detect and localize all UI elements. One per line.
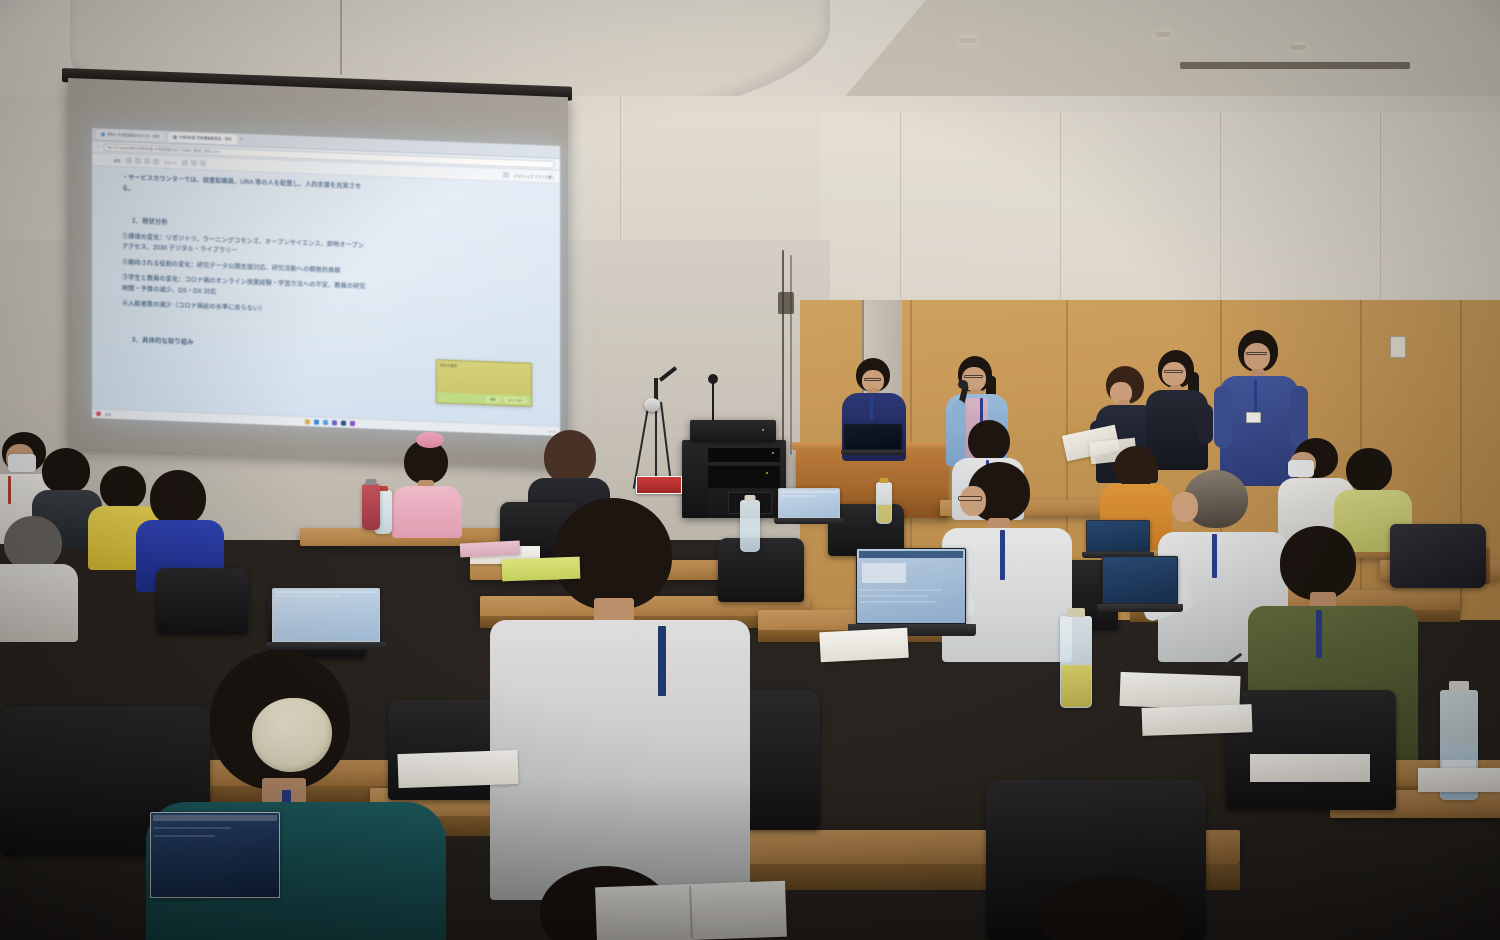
laptop-window-bar (781, 491, 837, 493)
lanyard (1212, 534, 1217, 578)
face (1162, 362, 1186, 386)
lanyard (1000, 530, 1005, 580)
ribbon-right-group: デスクトップ アプリで開く (503, 172, 555, 180)
browser-tab-2-label: 令和5年度 学術情報委員会 - 資料 (179, 135, 232, 142)
laptop-screen (845, 425, 901, 449)
eyeglasses-icon (964, 375, 983, 378)
head (968, 420, 1010, 462)
align-left-icon[interactable] (182, 159, 188, 165)
head (554, 498, 672, 610)
arm (952, 400, 965, 434)
lanyard (1316, 610, 1322, 658)
lanyard (658, 626, 666, 696)
edge-icon[interactable] (314, 420, 319, 425)
red-sign (636, 476, 682, 494)
head (42, 448, 90, 494)
laptop-content-line (276, 595, 340, 597)
laptop-lid (1086, 520, 1150, 552)
paper-document (1418, 768, 1500, 792)
laptop-content-line (154, 835, 215, 837)
face (960, 486, 986, 516)
lanyard (870, 396, 873, 420)
dialog-button-row: 保存 キャンセル (437, 392, 531, 406)
laptop-content-line (860, 589, 942, 591)
share-icon[interactable] (503, 172, 509, 178)
water-bottle (876, 482, 892, 524)
bold-icon[interactable] (126, 157, 132, 163)
paper-document (1250, 754, 1370, 782)
ribbon-format-group (182, 159, 206, 166)
tab-favicon-icon (173, 135, 177, 139)
laptop-screen (1087, 521, 1149, 551)
laptop-window-bar (859, 551, 963, 558)
video-camera-icon (644, 398, 660, 412)
laptop-base (774, 518, 844, 524)
explorer-icon[interactable] (305, 419, 310, 424)
head (1346, 448, 1392, 492)
browser-icon[interactable] (350, 421, 355, 426)
underline-icon[interactable] (144, 158, 150, 164)
paper-document (819, 628, 908, 663)
head (544, 430, 596, 484)
laptop-screen (857, 549, 965, 623)
name-badge (1246, 412, 1261, 423)
bottle-cap (880, 478, 889, 483)
projected-document: 資料1 大学図書館の在り方 - 検討 令和5年度 学術情報委員会 - 資料 + … (92, 128, 560, 436)
face-mask-icon (8, 454, 36, 472)
table-icon[interactable] (200, 160, 206, 166)
face (1244, 343, 1270, 370)
italic-icon[interactable] (135, 158, 141, 164)
eyeglasses-icon (958, 496, 982, 501)
laptop-lid (272, 588, 380, 642)
rack-status-led (766, 472, 768, 474)
new-tab-button[interactable]: + (240, 137, 243, 143)
water-bottle (740, 500, 760, 552)
back-icon[interactable]: ‹ (97, 144, 99, 150)
bottle-cap (366, 479, 377, 485)
laptop-content-block (862, 563, 906, 583)
laptop-lid (844, 424, 902, 450)
head (150, 470, 206, 526)
start-button-icon[interactable] (96, 411, 101, 416)
head (100, 466, 146, 510)
laptop-screen (779, 489, 839, 517)
ceiling-arch-rib (340, 0, 342, 75)
arm (1198, 404, 1213, 444)
pink-hair-bow (416, 432, 444, 448)
laptop-lid (1102, 556, 1178, 604)
torso (490, 620, 750, 900)
bottle-cap (1449, 681, 1469, 691)
laptop-screen (273, 589, 379, 641)
water-bottle (1060, 616, 1092, 708)
bottle-cap (745, 495, 756, 501)
head (1280, 526, 1356, 600)
open-desktop-app-button[interactable]: デスクトップ アプリで開く (513, 173, 555, 180)
backpack (1390, 524, 1486, 588)
dialog-save-button[interactable]: 保存 (486, 396, 500, 403)
head (1114, 446, 1158, 488)
dialog-title: 保存の確認 (437, 360, 531, 373)
laptop-screen (1103, 557, 1177, 603)
laptop-screen (151, 813, 279, 897)
mail-icon[interactable] (323, 420, 328, 425)
laptop-content-line (860, 601, 936, 603)
eyeglasses-icon (864, 378, 881, 381)
conference-room-photo: 資料1 大学図書館の在り方 - 検討 令和5年度 学術情報委員会 - 資料 + … (0, 0, 1500, 940)
ceiling-downlight (960, 38, 976, 43)
wall-control-panel[interactable] (1390, 336, 1406, 358)
taskbar-pinned-apps (305, 419, 355, 426)
document-body: ・サービスカウンターでは、図書館職員、URA 等の人を配置し、人的支援を充実させ… (92, 166, 560, 426)
laptop-content-line (782, 495, 818, 497)
ceiling-downlight (1155, 32, 1171, 37)
laptop-lid (778, 488, 840, 518)
microphone-head-icon (708, 374, 718, 384)
ribbon-edit-button[interactable]: 編集 (114, 157, 121, 162)
amp-led (762, 429, 764, 431)
chair[interactable] (718, 538, 804, 602)
ribbon-forward-button[interactable]: → (105, 158, 108, 162)
ribbon-tool-group (126, 157, 159, 164)
ribbon-back-button[interactable]: ← (97, 157, 100, 161)
bottle-contents (1061, 665, 1091, 707)
taskbar-clock: 13:24 (548, 429, 556, 433)
save-confirmation-dialog[interactable]: 保存の確認 保存 キャンセル (436, 359, 532, 407)
hanging-cable (790, 255, 792, 455)
laptop-window-bar (153, 815, 277, 821)
chair[interactable] (156, 568, 248, 634)
bottle-contents (877, 505, 891, 523)
ceiling-downlight (1290, 45, 1306, 50)
torso (392, 486, 462, 538)
torso (0, 564, 78, 642)
laptop-base (1097, 604, 1183, 612)
arm (1214, 386, 1232, 448)
laptop-window-bar (275, 591, 377, 593)
eyeglasses-icon (1164, 370, 1183, 373)
speaker-cabinet (682, 444, 708, 518)
lanyard (1254, 380, 1257, 414)
align-center-icon[interactable] (191, 160, 197, 166)
word-icon[interactable] (341, 421, 346, 426)
taskbar-search-label[interactable]: 検索 (105, 412, 111, 416)
green-folder (502, 557, 581, 582)
face (1172, 492, 1198, 522)
laptop-base (266, 642, 386, 650)
laptop-lid (856, 548, 966, 624)
thermos-bottle (362, 484, 380, 530)
dialog-cancel-button[interactable]: キャンセル (504, 397, 527, 404)
head grey (4, 516, 62, 570)
rack-status-led (772, 452, 774, 454)
tab-favicon-icon (101, 132, 105, 136)
microphone-capsule-icon (958, 380, 968, 389)
face-mask-icon (1288, 460, 1314, 477)
arm (1290, 386, 1308, 448)
hanging-cable (782, 250, 784, 465)
ribbon-comment-button[interactable]: コメント (164, 159, 178, 165)
teams-icon[interactable] (332, 420, 337, 425)
bottle-cap (1067, 608, 1085, 617)
browser-tab-1[interactable]: 資料1 大学図書館の在り方 - 検討 (96, 129, 165, 142)
eyeglasses-icon (1246, 352, 1267, 355)
browser-tab-1-label: 資料1 大学図書館の在り方 - 検討 (107, 132, 160, 139)
laptop-base (841, 450, 905, 455)
laptop-lid (150, 812, 280, 898)
paper-document (1142, 704, 1253, 736)
lanyard (8, 476, 11, 504)
paper-document (397, 750, 518, 788)
list-icon[interactable] (153, 158, 159, 164)
browser-tab-2[interactable]: 令和5年度 学術情報委員会 - 資料 (168, 132, 237, 145)
ceiling-vent (1180, 62, 1410, 69)
laptop-content-line (860, 595, 927, 597)
laptop-content-line (154, 827, 231, 829)
av-amplifier (690, 420, 776, 442)
tripod-leg (655, 402, 657, 482)
